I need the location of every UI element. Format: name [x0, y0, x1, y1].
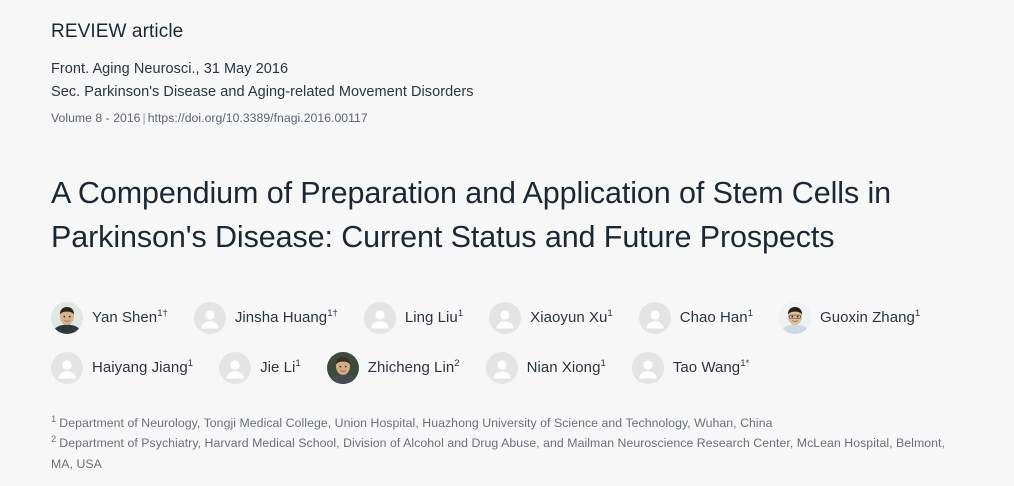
author-entry[interactable]: Tao Wang1*: [632, 352, 749, 384]
affiliation-text: Department of Psychiatry, Harvard Medica…: [51, 436, 945, 470]
author-row: Haiyang Jiang1Jie Li1Zhicheng Lin2Nian X…: [51, 347, 966, 389]
author-placeholder-avatar: [219, 352, 251, 384]
author-name[interactable]: Chao Han1: [680, 309, 753, 326]
author-entry[interactable]: Zhicheng Lin2: [327, 352, 460, 384]
author-photo-avatar: [779, 302, 811, 334]
author-affiliation-marker: 1†: [157, 308, 168, 319]
author-affiliation-marker: 1: [600, 358, 605, 369]
author-placeholder-avatar: [639, 302, 671, 334]
volume-doi-line: Volume 8 - 2016|https://doi.org/10.3389/…: [51, 109, 966, 129]
doi-link[interactable]: https://doi.org/10.3389/fnagi.2016.00117: [148, 111, 368, 125]
meta-separator: |: [141, 111, 148, 125]
author-placeholder-avatar: [486, 352, 518, 384]
author-placeholder-avatar: [632, 352, 664, 384]
journal-citation-line: Front. Aging Neurosci., 31 May 2016: [51, 58, 966, 81]
author-affiliation-marker: 1: [915, 308, 920, 319]
author-entry[interactable]: Haiyang Jiang1: [51, 352, 193, 384]
author-entry[interactable]: Nian Xiong1: [486, 352, 606, 384]
author-entry[interactable]: Chao Han1: [639, 302, 753, 334]
author-entry[interactable]: Ling Liu1: [364, 302, 463, 334]
author-name[interactable]: Haiyang Jiang1: [92, 359, 193, 376]
article-header-page: REVIEW article Front. Aging Neurosci., 3…: [0, 0, 1014, 486]
author-entry[interactable]: Guoxin Zhang1: [779, 302, 920, 334]
author-name[interactable]: Nian Xiong1: [527, 359, 606, 376]
author-entry[interactable]: Yan Shen1†: [51, 302, 168, 334]
affiliation-text: Department of Neurology, Tongji Medical …: [59, 416, 772, 430]
author-photo-avatar: [327, 352, 359, 384]
author-affiliation-marker: 1†: [327, 308, 338, 319]
author-affiliation-marker: 1: [295, 358, 300, 369]
author-name[interactable]: Zhicheng Lin2: [368, 359, 460, 376]
author-placeholder-avatar: [364, 302, 396, 334]
author-affiliation-marker: 1: [188, 358, 193, 369]
author-affiliation-marker: 1: [607, 308, 612, 319]
author-name[interactable]: Ling Liu1: [405, 309, 463, 326]
author-name[interactable]: Tao Wang1*: [673, 359, 749, 376]
author-entry[interactable]: Xiaoyun Xu1: [489, 302, 613, 334]
author-list: Yan Shen1†Jinsha Huang1†Ling Liu1Xiaoyun…: [51, 297, 966, 389]
author-name[interactable]: Jie Li1: [260, 359, 301, 376]
page-title: A Compendium of Preparation and Applicat…: [51, 172, 966, 259]
author-entry[interactable]: Jie Li1: [219, 352, 301, 384]
author-name[interactable]: Yan Shen1†: [92, 309, 168, 326]
affiliation-list: 1Department of Neurology, Tongji Medical…: [51, 413, 966, 474]
author-name[interactable]: Guoxin Zhang1: [820, 309, 920, 326]
author-entry[interactable]: Jinsha Huang1†: [194, 302, 338, 334]
author-placeholder-avatar: [194, 302, 226, 334]
author-affiliation-marker: 1: [458, 308, 463, 319]
author-name[interactable]: Xiaoyun Xu1: [530, 309, 613, 326]
volume-label: Volume 8 - 2016: [51, 111, 141, 125]
article-type-label: REVIEW article: [51, 20, 966, 44]
affiliation-item: 2Department of Psychiatry, Harvard Medic…: [51, 433, 966, 474]
author-affiliation-marker: 1: [748, 308, 753, 319]
author-photo-avatar: [51, 302, 83, 334]
author-affiliation-marker: 1*: [740, 358, 749, 369]
author-placeholder-avatar: [51, 352, 83, 384]
journal-section-line: Sec. Parkinson's Disease and Aging-relat…: [51, 81, 966, 104]
author-name[interactable]: Jinsha Huang1†: [235, 309, 338, 326]
author-row: Yan Shen1†Jinsha Huang1†Ling Liu1Xiaoyun…: [51, 297, 966, 339]
author-affiliation-marker: 2: [454, 358, 459, 369]
affiliation-item: 1Department of Neurology, Tongji Medical…: [51, 413, 966, 433]
author-placeholder-avatar: [489, 302, 521, 334]
